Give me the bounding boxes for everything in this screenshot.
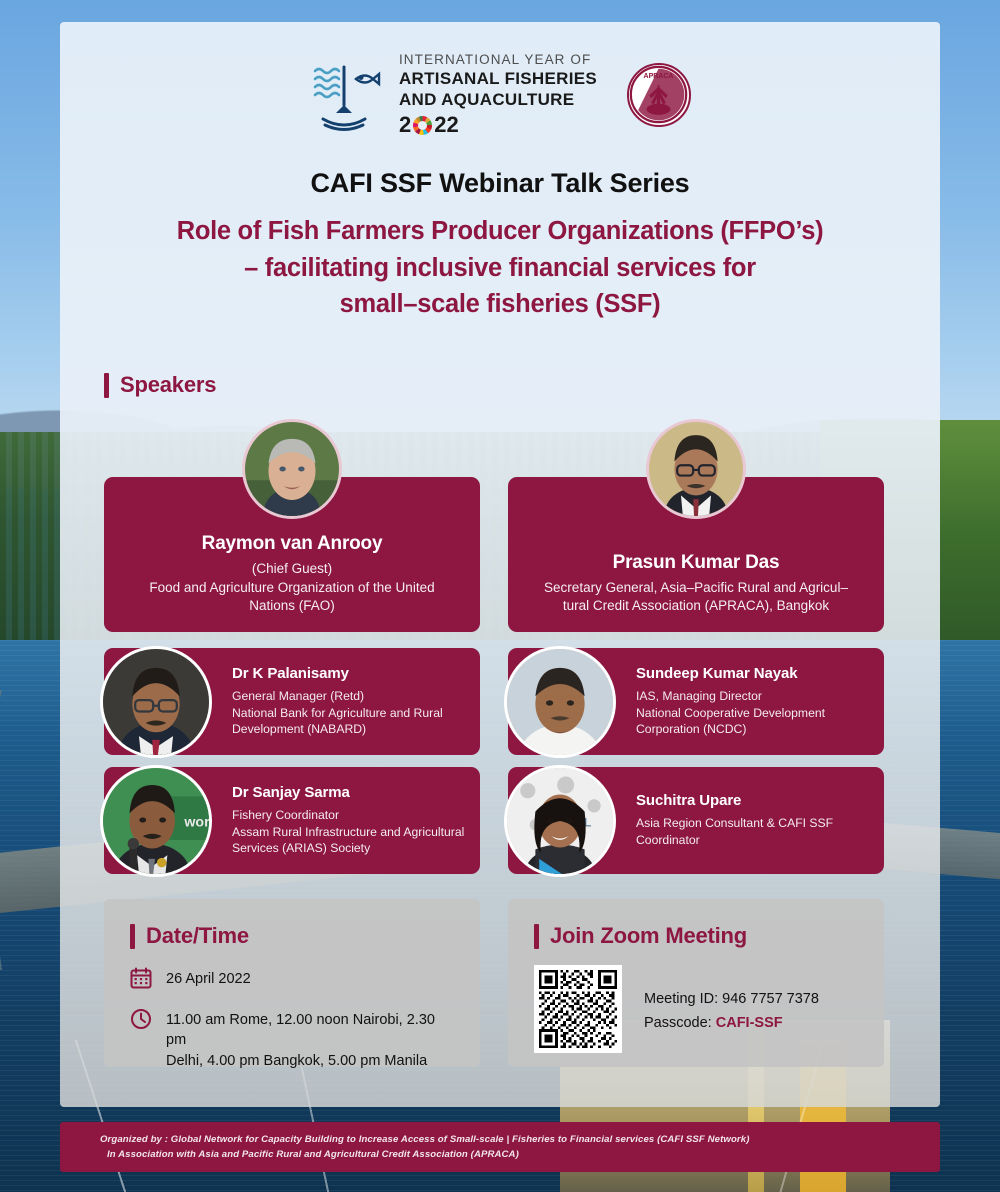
iyafa-wordmark: INTERNATIONAL YEAR OF ARTISANAL FISHERIE… <box>399 52 597 138</box>
datetime-heading-label: Date/Time <box>146 923 249 949</box>
accent-bar-icon <box>534 924 539 949</box>
time-line: 11.00 am Rome, 12.00 noon Nairobi, 2.30 … <box>130 1008 454 1072</box>
subtitle-line-2: – facilitating inclusive financial servi… <box>60 250 940 287</box>
speaker-role-line-3: Services (ARIAS) Society <box>232 840 464 857</box>
footer-line-1: Organized by : Global Network for Capaci… <box>100 1134 900 1145</box>
speaker-role-line-2: National Bank for Agriculture and Rural <box>232 705 443 722</box>
speaker-role-line-3: Corporation (NCDC) <box>636 721 825 738</box>
iyafa-line1: INTERNATIONAL YEAR OF <box>399 52 597 67</box>
speaker-info: Dr K Palanisamy General Manager (Retd) N… <box>232 665 443 738</box>
speakers-grid: Dr K Palanisamy General Manager (Retd) N… <box>104 648 896 874</box>
passcode-value: CAFI-SSF <box>716 1015 783 1031</box>
zoom-heading: Join Zoom Meeting <box>534 923 858 949</box>
featured-speakers-row: Raymon van Anrooy (Chief Guest) Food and… <box>104 477 896 632</box>
iyafa-line3: AND AQUACULTURE <box>399 90 597 109</box>
title-block: CAFI SSF Webinar Talk Series Role of Fis… <box>60 168 940 323</box>
accent-bar-icon <box>104 373 109 398</box>
speaker-name: Sundeep Kumar Nayak <box>636 665 825 682</box>
speaker-role-line-1: IAS, Managing Director <box>636 688 825 705</box>
meeting-id: Meeting ID: 946 7757 7378 <box>644 987 819 1011</box>
iyafa-fish-logo-icon <box>309 57 383 133</box>
speaker-role: General Manager (Retd) National Bank for… <box>232 688 443 738</box>
svg-text:APRACA: APRACA <box>644 73 674 80</box>
speaker-role-line-2: tural Credit Association (APRACA), Bangk… <box>544 597 848 616</box>
speaker-role-line-1: Secretary General, Asia–Pacific Rural an… <box>544 579 848 598</box>
logo-row: INTERNATIONAL YEAR OF ARTISANAL FISHERIE… <box>60 45 940 145</box>
speaker-name: Raymon van Anrooy <box>202 533 383 555</box>
speaker-role: (Chief Guest) Food and Agriculture Organ… <box>129 560 454 616</box>
speaker-role-line-1: (Chief Guest) <box>149 560 434 579</box>
speaker-role-line-3: Development (NABARD) <box>232 721 443 738</box>
speaker-name: Suchitra Upare <box>636 792 833 809</box>
time-line-2: Delhi, 4.00 pm Bangkok, 5.00 pm Manila <box>166 1053 427 1069</box>
speaker-info: Suchitra Upare Asia Region Consultant & … <box>636 792 833 848</box>
speaker-card[interactable]: work Dr Sanjay Sarma Fishery Coordinator… <box>104 767 480 874</box>
zoom-meeting-panel: Join Zoom Meeting <box>508 899 884 1067</box>
avatar: 2L <box>504 765 616 877</box>
speaker-info: Dr Sanjay Sarma Fishery Coordinator Assa… <box>232 784 464 857</box>
speaker-info: Sundeep Kumar Nayak IAS, Managing Direct… <box>636 665 825 738</box>
speaker-role-line-2: Food and Agriculture Organization of the… <box>149 579 434 598</box>
speaker-role-line-1: General Manager (Retd) <box>232 688 443 705</box>
iyafa-year-suffix: 22 <box>434 112 458 138</box>
passcode-row: Passcode: CAFI-SSF <box>644 1011 819 1035</box>
time-line-1: 11.00 am Rome, 12.00 noon Nairobi, 2.30 … <box>166 1012 435 1049</box>
avatar: work <box>100 765 212 877</box>
datetime-heading: Date/Time <box>130 923 454 949</box>
speaker-role: Asia Region Consultant & CAFI SSF Coordi… <box>636 815 833 848</box>
qr-code[interactable] <box>534 965 622 1053</box>
subtitle-line-3: small–scale fisheries (SSF) <box>60 286 940 323</box>
page-title: CAFI SSF Webinar Talk Series <box>60 168 940 199</box>
speaker-name: Dr Sanjay Sarma <box>232 784 464 801</box>
zoom-body: Meeting ID: 946 7757 7378 Passcode: CAFI… <box>534 965 858 1053</box>
info-row: Date/Time 26 April 2022 <box>104 899 896 1067</box>
speaker-role-line-2: National Cooperative Development <box>636 705 825 722</box>
speakers-section-heading: Speakers <box>104 372 216 398</box>
footer-line-2: In Association with Asia and Pacific Rur… <box>100 1149 900 1160</box>
speaker-card[interactable]: 2L Suchitra Upare Asia Region Consultant… <box>508 767 884 874</box>
svg-text:work: work <box>183 814 209 830</box>
datetime-panel: Date/Time 26 April 2022 <box>104 899 480 1067</box>
speaker-role: Secretary General, Asia–Pacific Rural an… <box>524 579 868 616</box>
speaker-name: Dr K Palanisamy <box>232 665 443 682</box>
avatar <box>100 646 212 758</box>
zoom-meta: Meeting ID: 946 7757 7378 Passcode: CAFI… <box>644 965 819 1036</box>
avatar <box>646 419 746 519</box>
iyafa-line2: ARTISANAL FISHERIES <box>399 69 597 88</box>
clock-icon <box>130 1008 152 1030</box>
speaker-card[interactable]: Dr K Palanisamy General Manager (Retd) N… <box>104 648 480 755</box>
speaker-role: IAS, Managing Director National Cooperat… <box>636 688 825 738</box>
speaker-role-line-1: Asia Region Consultant & CAFI SSF <box>636 815 833 832</box>
page-subtitle: Role of Fish Farmers Producer Organizati… <box>60 213 940 323</box>
featured-speaker-card[interactable]: Raymon van Anrooy (Chief Guest) Food and… <box>104 477 480 632</box>
iyafa-year-prefix: 2 <box>399 112 411 138</box>
footer-bar: Organized by : Global Network for Capaci… <box>60 1122 940 1172</box>
featured-speaker-card[interactable]: Prasun Kumar Das Secretary General, Asia… <box>508 477 884 632</box>
speaker-role-line-2: Assam Rural Infrastructure and Agricultu… <box>232 824 464 841</box>
passcode-label: Passcode: <box>644 1015 712 1031</box>
sdg-wheel-icon <box>413 116 432 135</box>
zoom-heading-label: Join Zoom Meeting <box>550 923 747 949</box>
speakers-heading-label: Speakers <box>120 372 216 398</box>
speaker-role-line-3: Nations (FAO) <box>149 597 434 616</box>
speaker-card[interactable]: Sundeep Kumar Nayak IAS, Managing Direct… <box>508 648 884 755</box>
avatar <box>242 419 342 519</box>
date-line: 26 April 2022 <box>130 967 454 990</box>
apraca-logo-icon: APRACA <box>627 63 691 127</box>
subtitle-line-1: Role of Fish Farmers Producer Organizati… <box>60 213 940 250</box>
date-value: 26 April 2022 <box>166 967 251 990</box>
time-value: 11.00 am Rome, 12.00 noon Nairobi, 2.30 … <box>166 1008 454 1072</box>
accent-bar-icon <box>130 924 135 949</box>
speaker-role-line-1: Fishery Coordinator <box>232 807 464 824</box>
speaker-role: Fishery Coordinator Assam Rural Infrastr… <box>232 807 464 857</box>
speaker-name: Prasun Kumar Das <box>613 552 780 574</box>
avatar <box>504 646 616 758</box>
iyafa-year: 2 22 <box>399 112 597 138</box>
calendar-icon <box>130 967 152 989</box>
speaker-role-line-2: Coordinator <box>636 832 833 849</box>
